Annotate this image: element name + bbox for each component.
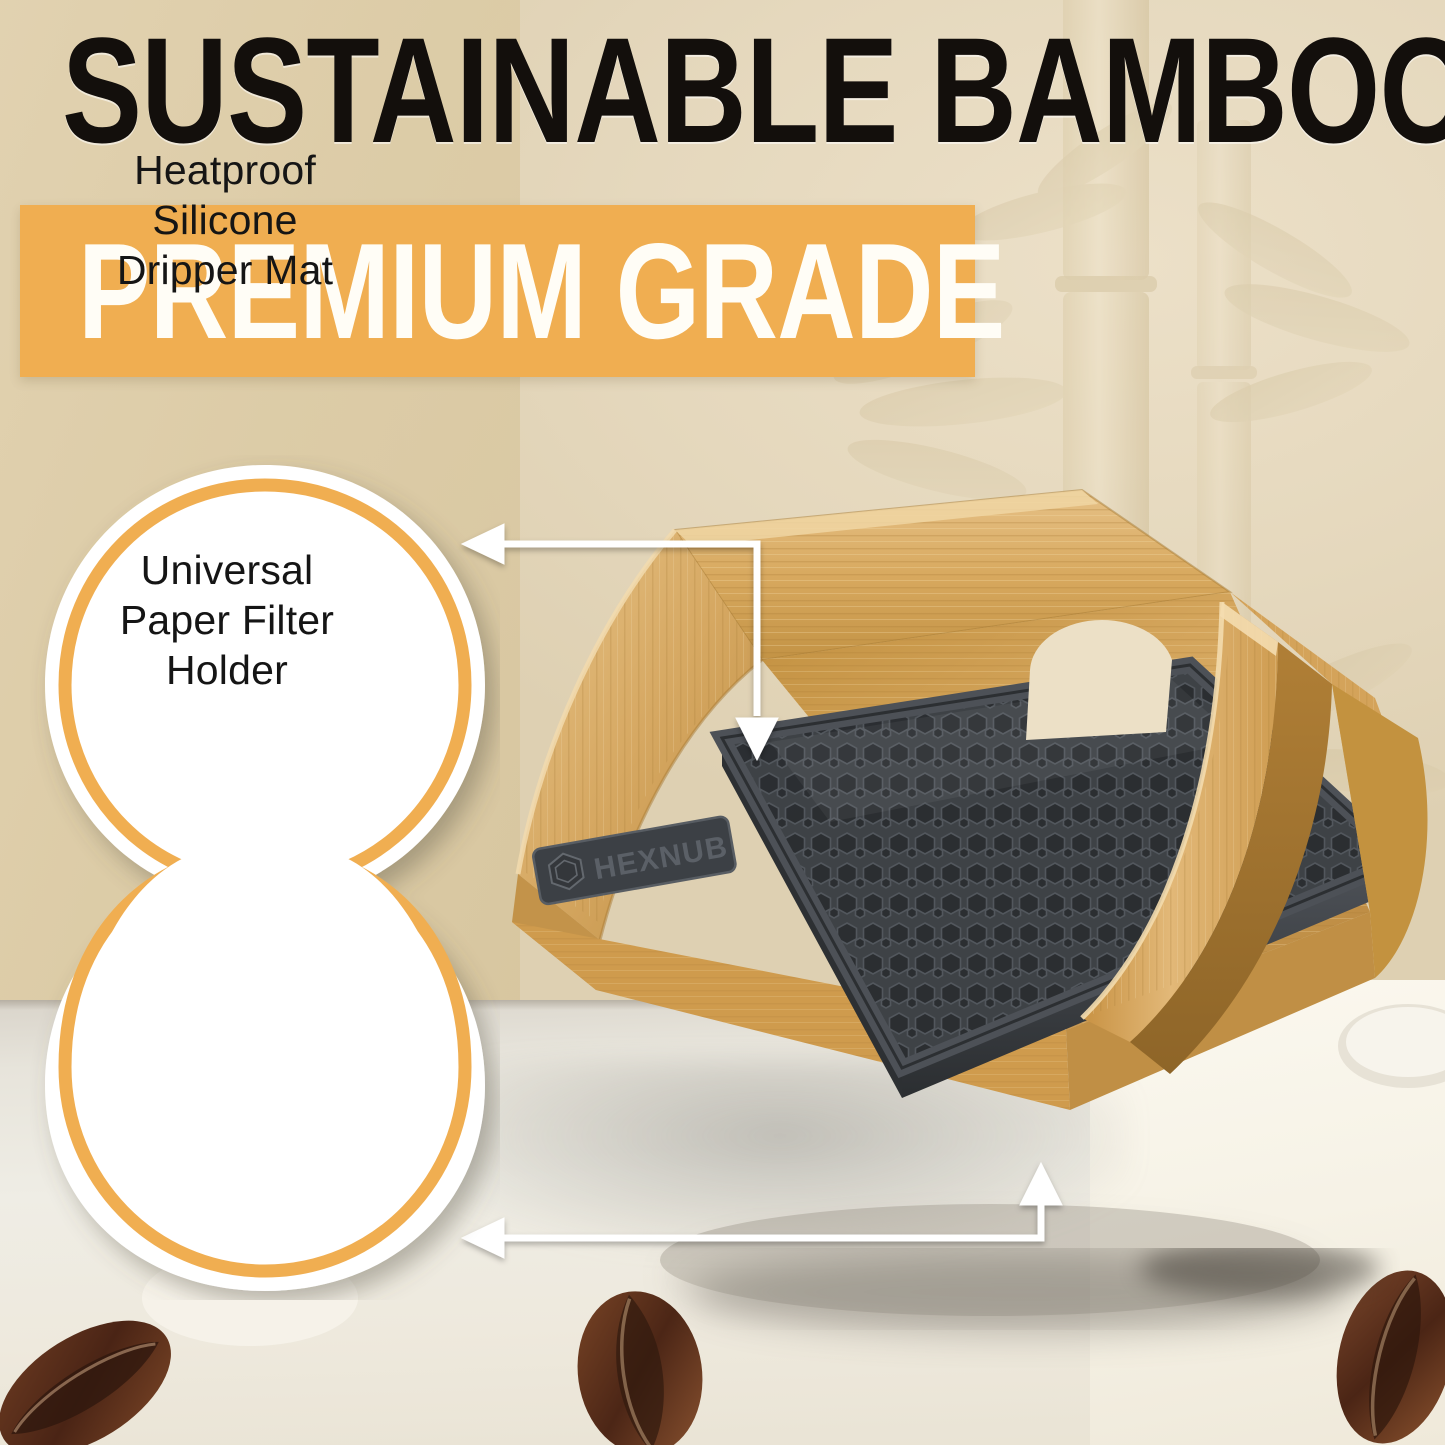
callout-line: Silicone: [60, 195, 390, 245]
callout-line: Universal: [62, 545, 392, 595]
hexnub-logo: [540, 1046, 708, 1110]
callout-line: Dripper Mat: [60, 245, 390, 295]
callout-label-filter-holder: Universal Paper Filter Holder: [62, 545, 392, 695]
callout-line: Paper Filter: [62, 595, 392, 645]
callout-line: Holder: [62, 645, 392, 695]
callout-label-dripper-mat: Heatproof Silicone Dripper Mat: [60, 145, 390, 295]
finger-hole-cutout: [1026, 620, 1172, 740]
coffee-bean-icon: [0, 1318, 190, 1445]
product-infographic: HEXNUB: [0, 0, 1445, 1445]
callout-line: Heatproof: [60, 145, 390, 195]
bamboo-coffee-filter-holder: HEXNUB: [470, 470, 1445, 1330]
page-title: SUSTAINABLE BAMBOO: [62, 14, 1445, 166]
coffee-bean-blur-shadow: [640, 1248, 1400, 1368]
